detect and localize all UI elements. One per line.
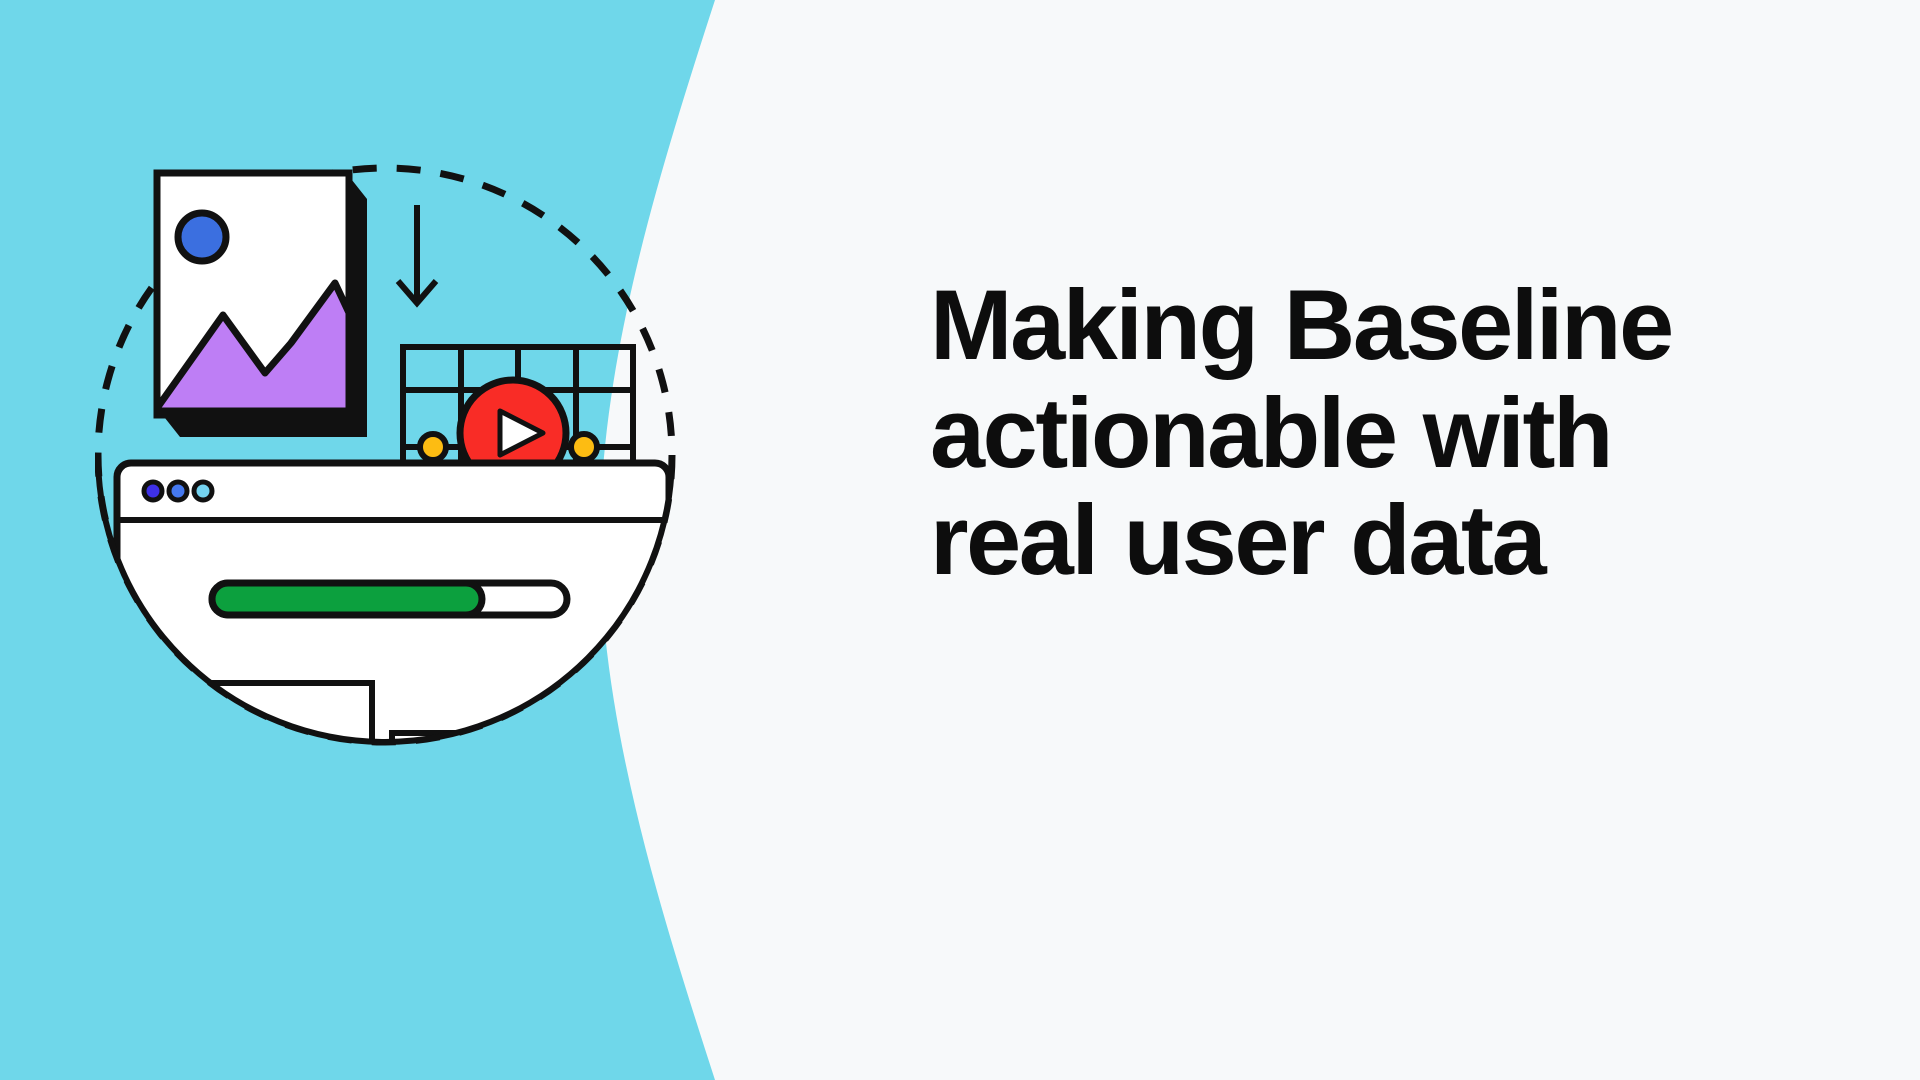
loading-progress-bar <box>212 583 567 615</box>
page-title: Making Baseline actionable with real use… <box>930 271 1800 593</box>
grid-dot-icon-1 <box>420 434 446 460</box>
hero-banner: Making Baseline actionable with real use… <box>0 0 1920 1080</box>
window-dot-icon-1[interactable] <box>144 482 162 500</box>
window-dot-icon-3[interactable] <box>194 482 212 500</box>
grid-dot-icon-2 <box>571 434 597 460</box>
content-block-1 <box>212 683 372 755</box>
download-arrow-icon <box>398 205 436 303</box>
progress-fill <box>212 583 482 615</box>
sun-circle-icon <box>178 213 226 261</box>
image-placeholder-card <box>155 173 395 437</box>
window-dot-icon-2[interactable] <box>169 482 187 500</box>
web-performance-illustration <box>95 155 715 795</box>
